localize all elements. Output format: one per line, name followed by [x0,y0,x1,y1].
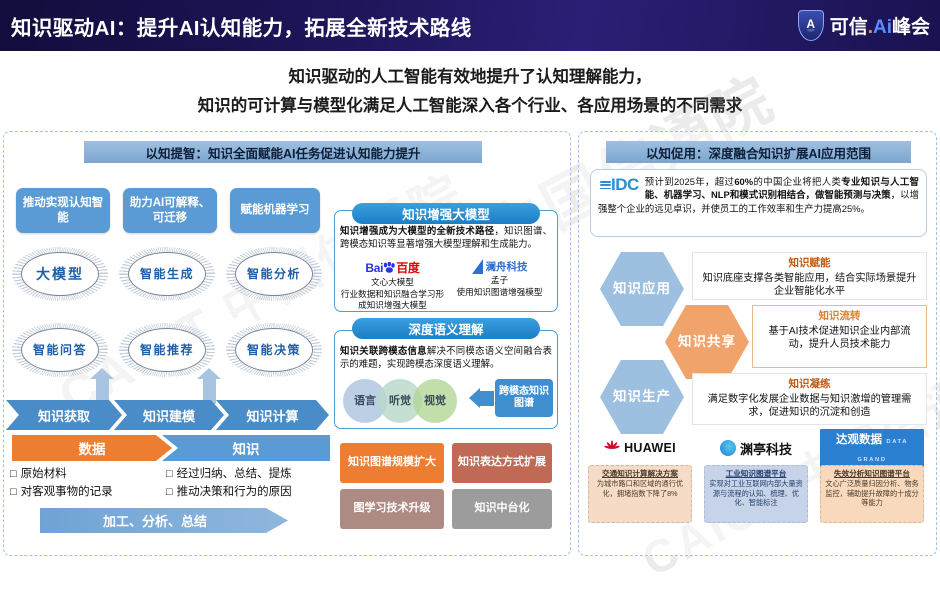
knowledge-bullet-list: 经过归纳、总结、提炼 推动决策和行为的原因 [166,466,292,502]
deep-semantic-understanding-card: 知识关联跨模态信息解决不同模态语义空间融合表示的难题，实现跨模态深度语义理解。 … [334,330,558,429]
logo-text-part1: 可信 [830,17,868,38]
baidu-brand-right: 百度 [396,261,419,275]
case-card-huawei: 交通知识计算解决方案 为城市路口和区域的通行优化，拥堵指数下降了8% [588,465,692,523]
idc-seg-2: 的中国企业将把人类 [753,176,841,187]
trend-tile-3[interactable]: 图学习技术升级 [340,489,444,529]
ability-node-3[interactable]: 智能分析 [226,247,322,301]
yuanting-circle-icon [720,440,736,456]
node-label: 智能决策 [247,343,301,357]
trend-tile-2[interactable]: 知识表达方式扩展 [452,443,552,483]
node-label: 智能生成 [140,267,194,281]
note-knowledge-condensation: 知识凝练 满足数字化发展企业数据与知识激增的管理需求，促进知识的沉淀和创造 [692,373,927,425]
card2-caption: 深度语义理解 [352,318,540,339]
node-label: 智能问答 [33,343,87,357]
left-arrow-icon [480,391,494,406]
card2-body-bold: 知识关联跨模态信息 [340,345,427,356]
partner-logo-datagrand: 达观数据 DATA GRAND [820,436,924,460]
note-title: 知识赋能 [699,257,920,271]
knowledge-bar: 知识 [162,435,330,461]
idc-forecast-text: IDC预计到2025年，超过60%的中国企业将把人类专业知识与人工智能、机器学习… [598,175,919,215]
case-title: 失效分析知识图谱平台 [824,469,920,478]
datagrand-logo-icon: 达观数据 DATA GRAND [820,429,924,467]
idc-forecast-box: IDC预计到2025年，超过60%的中国企业将把人类专业知识与人工智能、机器学习… [590,169,927,237]
node-oval: 大模型 [21,252,99,296]
vendor-logo-row: Bai百度 文心大模型 行业数据和知识融合学习形成知识增强大模型 澜舟科技 孟子… [339,259,553,312]
cross-modal-kg-box: 跨模态知识图谱 [495,379,553,417]
trend-tile-4[interactable]: 知识中台化 [452,489,552,529]
shield-icon: A 可信AI [798,10,824,41]
idc-seg-1: 预计到2025年，超过 [645,176,735,187]
card1-body: 知识增强成为大模型的全新技术路径，知识图谱、跨模态知识等显著增强大模型理解和生成… [340,225,552,250]
vendor-langboat: 澜舟科技 孟子 使用知识图谱增强模型 [446,259,553,312]
list-item: 对客观事物的记录 [10,484,113,502]
node-label: 智能推荐 [140,343,194,357]
note-knowledge-flow: 知识流转 基于AI技术促进知识企业内部流动，提升人员技术能力 [752,305,927,368]
list-item: 推动决策和行为的原因 [166,484,292,502]
conference-logo: A 可信AI 可信.Ai峰会 [798,10,930,41]
node-oval: 智能问答 [21,328,99,372]
page-title: 知识驱动AI：提升AI认知能力，拓展全新技术路线 [11,11,472,41]
chevron-step-3[interactable]: 知识计算 [216,400,329,430]
note-body: 满足数字化发展企业数据与知识激增的管理需求，促进知识的沉淀和创造 [699,393,920,420]
case-body: 为城市路口和区域的通行优化，拥堵指数下降了8% [592,479,688,498]
baidu-model-desc: 行业数据和知识融合学习形成知识增强大模型 [339,289,446,311]
right-panel-title: 以知促用：深度融合知识扩展AI应用范围 [606,141,911,163]
note-body: 知识底座支撑各类智能应用，结合实际场景提升企业智能化水平 [699,272,920,299]
node-oval: 智能生成 [128,252,206,296]
left-panel-title: 以知提智：知识全面赋能AI任务促进认知能力提升 [84,141,482,163]
note-title: 知识流转 [759,310,920,324]
modality-circle-vision: 视觉 [413,379,457,423]
list-item: 原始材料 [10,466,113,484]
node-oval: 智能分析 [235,252,313,296]
note-body: 基于AI技术促进知识企业内部流动，提升人员技术能力 [759,325,920,352]
subtitle-line-2: 知识的可计算与模型化满足人工智能深入各个行业、各应用场景的不同需求 [198,92,743,116]
subtitle-line-1: 知识驱动的人工智能有效地提升了认知理解能力， [289,63,652,87]
data-bullet-list: 原始材料 对客观事物的记录 [10,466,113,502]
case-body: 文心广泛质量归因分析、物务监控，辅助提升故障的十成分等能力 [824,479,920,507]
capability-box-1[interactable]: 推动实现认知智能 [16,188,110,233]
baidu-brand-left: Bai [365,261,383,275]
case-title: 工业知识图谱平台 [708,469,804,478]
partner-logo-huawei: HUAWEI [588,436,692,460]
capability-box-2[interactable]: 助力AI可解释、可迁移 [123,188,217,233]
card2-body: 知识关联跨模态信息解决不同模态语义空间融合表示的难题，实现跨模态深度语义理解。 [340,345,552,370]
subtitle-block: 知识驱动的人工智能有效地提升了认知理解能力， 知识的可计算与模型化满足人工智能深… [0,51,940,127]
note-title: 知识凝练 [699,378,920,392]
yuanting-wordmark: 渊亭科技 [740,439,792,458]
chevron-step-1[interactable]: 知识获取 [6,400,122,430]
note-knowledge-empowerment: 知识赋能 知识底座支撑各类智能应用，结合实际场景提升企业智能化水平 [692,252,927,300]
idc-bold-1: 60% [734,176,753,187]
logo-text: 可信.Ai峰会 [830,12,930,39]
baidu-model-name: 文心大模型 [339,277,446,288]
huawei-flower-icon [604,440,620,456]
node-label: 大模型 [36,266,84,283]
data-bar: 数据 [12,435,172,461]
chevron-step-2[interactable]: 知识建模 [114,400,224,430]
node-label: 智能分析 [247,267,301,281]
list-item: 经过归纳、总结、提炼 [166,466,292,484]
vendor-baidu: Bai百度 文心大模型 行业数据和知识融合学习形成知识增强大模型 [339,259,446,312]
datagrand-wordmark-cn: 达观数据 [836,434,882,446]
langboat-logo-icon: 澜舟科技 [446,259,553,274]
card1-caption: 知识增强大模型 [352,203,540,224]
idc-logo-icon: IDC [600,176,639,193]
huawei-wordmark: HUAWEI [624,441,676,455]
page-header: 知识驱动AI：提升AI认知能力，拓展全新技术路线 A 可信AI 可信.Ai峰会 [0,0,940,51]
ability-node-1[interactable]: 大模型 [12,247,108,301]
ability-node-2[interactable]: 智能生成 [119,247,215,301]
node-oval: 智能决策 [235,328,313,372]
shield-sublabel: 可信AI [807,30,814,33]
modality-circle-group: 语言 听觉 视觉 [343,379,475,423]
case-title: 交通知识计算解决方案 [592,469,688,478]
langboat-model-name: 孟子 [446,275,553,286]
ability-node-6[interactable]: 智能决策 [226,323,322,377]
case-card-datagrand: 失效分析知识图谱平台 文心广泛质量归因分析、物务监控，辅助提升故障的十成分等能力 [820,465,924,523]
process-chevron-band: 知识获取 知识建模 知识计算 [6,400,326,430]
case-body: 实现对工业互联网内部大量资源与流程的认知、梳理、优化、智能标注 [708,479,804,507]
langboat-brand: 澜舟科技 [486,259,528,274]
baidu-logo-icon: Bai百度 [339,259,446,276]
card1-body-bold: 知识增强成为大模型的全新技术路径 [340,225,494,236]
trend-tile-1[interactable]: 知识图谱规模扩大 [340,443,444,483]
case-card-yuanting: 工业知识图谱平台 实现对工业互联网内部大量资源与流程的认知、梳理、优化、智能标注 [704,465,808,523]
langboat-model-desc: 使用知识图谱增强模型 [446,287,553,298]
partner-logo-yuanting: 渊亭科技 [704,436,808,460]
node-oval: 智能推荐 [128,328,206,372]
logo-text-part2: 峰会 [892,17,930,38]
idc-logo-text: IDC [611,175,639,194]
process-arrow: 加工、分析、总结 [40,508,288,533]
knowledge-enhanced-model-card: 知识增强成为大模型的全新技术路径，知识图谱、跨模态知识等显著增强大模型理解和生成… [334,210,558,312]
capability-box-3[interactable]: 赋能机器学习 [230,188,320,233]
logo-text-ai: Ai [873,17,892,38]
